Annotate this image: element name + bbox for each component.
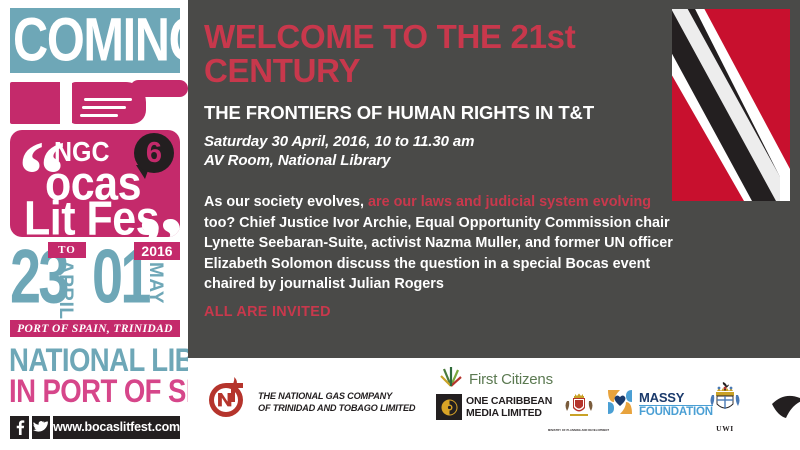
sponsor-massy-foundation: MASSY FOUNDATION bbox=[606, 388, 713, 421]
ministry-name: MINISTRY OF PLANNING AND DEVELOPMENT bbox=[548, 429, 609, 432]
sponsor-unnamed-black-mark bbox=[770, 394, 800, 433]
bocas-lit-fest-logo: “ 6 NGC ocas Lit Fes ” bbox=[10, 130, 180, 237]
event-location: AV Room, National Library bbox=[204, 151, 674, 170]
ngc-name-line2: OF TRINIDAD AND TOBAGO LIMITED bbox=[258, 403, 415, 413]
event-datetime: Saturday 30 April, 2016, 10 to 11.30 am bbox=[204, 132, 674, 151]
festival-branding-panel: COMING UP “ 6 NGC ocas Lit Fes ” 23 APRI… bbox=[0, 0, 188, 450]
massy-name: MASSY FOUNDATION bbox=[639, 391, 713, 419]
city-bar: PORT OF SPAIN, TRINIDAD bbox=[10, 320, 180, 337]
massy-logo bbox=[606, 388, 634, 421]
hand-cuff-shape bbox=[60, 78, 72, 126]
festival-year: 2016 bbox=[134, 242, 180, 260]
uwi-name: UWI bbox=[716, 424, 734, 433]
first-citizens-logo bbox=[438, 364, 464, 395]
coming-up-banner: COMING UP bbox=[10, 8, 180, 73]
close-quote-glyph: ” bbox=[136, 216, 180, 237]
facebook-icon[interactable] bbox=[10, 416, 29, 439]
event-text-block: WELCOME TO THE 21st CENTURY THE FRONTIER… bbox=[204, 20, 674, 320]
sponsor-ministry: MINISTRY OF PLANNING AND DEVELOPMENT bbox=[548, 392, 609, 432]
massy-name-line2: FOUNDATION bbox=[639, 405, 713, 419]
trinidad-and-tobago-flag bbox=[672, 9, 790, 201]
event-headline: WELCOME TO THE 21st CENTURY bbox=[204, 20, 674, 88]
pointing-hand-icon bbox=[10, 72, 180, 130]
ngc-name-line1: THE NATIONAL GAS COMPANY bbox=[258, 391, 392, 401]
hand-detail-line bbox=[84, 98, 132, 101]
event-details-panel: WELCOME TO THE 21st CENTURY THE FRONTIER… bbox=[188, 0, 800, 358]
hand-arm-shape bbox=[10, 82, 65, 124]
sponsor-ngc: THE NATIONAL GAS COMPANY OF TRINIDAD AND… bbox=[202, 376, 415, 429]
festival-dates: 23 APRIL TO 01 MAY 2016 bbox=[10, 240, 180, 318]
twitter-icon[interactable] bbox=[32, 416, 51, 439]
call-to-action: ALL ARE INVITED bbox=[204, 304, 674, 320]
ocm-name: ONE CARIBBEAN MEDIA LIMITED bbox=[466, 395, 552, 420]
ocm-name-line2: MEDIA LIMITED bbox=[466, 407, 542, 419]
event-poster: COMING UP “ 6 NGC ocas Lit Fes ” 23 APRI… bbox=[0, 0, 800, 450]
sponsor-one-caribbean-media: ONE CARIBBEAN MEDIA LIMITED bbox=[436, 394, 552, 420]
black-swoosh-logo bbox=[770, 394, 800, 433]
website-url[interactable]: www.bocaslitfest.com bbox=[53, 416, 180, 439]
start-month: APRIL bbox=[54, 260, 76, 318]
description-part-1: As our society evolves, bbox=[204, 194, 368, 210]
hand-detail-line bbox=[80, 114, 118, 117]
sponsor-logo-bar: THE NATIONAL GAS COMPANY OF TRINIDAD AND… bbox=[188, 358, 800, 450]
coming-up-label: COMING UP bbox=[13, 8, 180, 73]
ocm-logo bbox=[436, 394, 462, 420]
description-highlight: are our laws and judicial system evolvin… bbox=[368, 194, 651, 210]
event-subhead: THE FRONTIERS OF HUMAN RIGHTS IN T&T bbox=[204, 102, 674, 124]
description-part-2: too? Chief Justice Ivor Archie, Equal Op… bbox=[204, 215, 673, 292]
ocm-name-line1: ONE CARIBBEAN bbox=[466, 395, 552, 407]
first-citizens-name: First Citizens bbox=[469, 371, 553, 388]
hand-finger-shape bbox=[130, 80, 188, 97]
venue-line-2: IN PORT OF SPAIN bbox=[9, 374, 188, 411]
uwi-crest bbox=[708, 382, 742, 423]
sponsor-first-citizens: First Citizens bbox=[438, 364, 553, 395]
event-description: As our society evolves, are our laws and… bbox=[204, 192, 674, 294]
trinidad-coat-of-arms bbox=[561, 392, 597, 427]
social-footer: www.bocaslitfest.com bbox=[10, 415, 180, 439]
date-separator: TO bbox=[48, 242, 86, 258]
ngc-flame-logo bbox=[202, 376, 250, 429]
sponsor-uwi: UWI bbox=[708, 382, 742, 433]
hand-detail-line bbox=[82, 106, 126, 109]
massy-name-line1: MASSY bbox=[639, 391, 713, 404]
end-month: MAY bbox=[144, 262, 166, 318]
ngc-name: THE NATIONAL GAS COMPANY OF TRINIDAD AND… bbox=[258, 391, 415, 414]
